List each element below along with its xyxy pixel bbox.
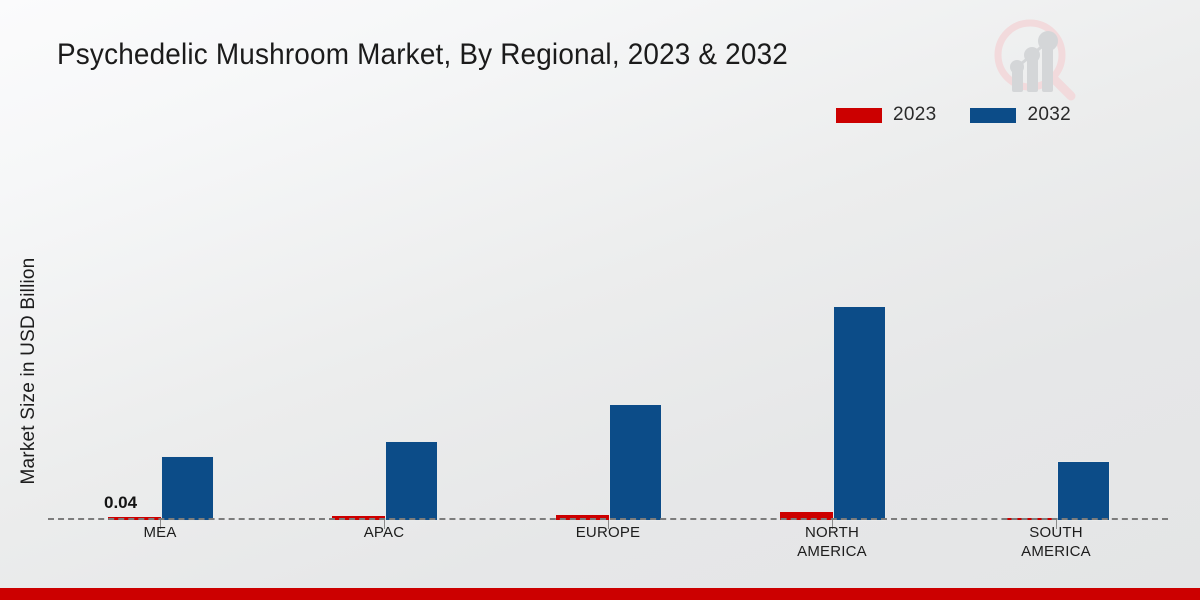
bar-north-america-2032[interactable] <box>834 307 885 520</box>
legend-item-2023[interactable]: 2023 <box>836 104 936 126</box>
watermark-logo <box>985 12 1083 110</box>
bar-group-apac: APAC <box>272 150 496 520</box>
bar-apac-2032[interactable] <box>386 442 437 520</box>
legend-label-2032: 2032 <box>1027 104 1070 126</box>
bottom-accent-band <box>0 588 1200 600</box>
bars-north-america <box>720 150 944 520</box>
magnifier-icon <box>998 23 1071 96</box>
bar-group-south-america: SOUTH AMERICA <box>944 150 1168 520</box>
category-label-north-america: NORTH AMERICA <box>720 523 944 561</box>
bars-mea <box>48 150 272 520</box>
legend-swatch-2032 <box>970 108 1016 123</box>
legend-label-2023: 2023 <box>893 104 936 126</box>
category-label-apac: APAC <box>272 523 496 542</box>
bar-group-mea: 0.04 MEA <box>48 150 272 520</box>
bars-south-america <box>944 150 1168 520</box>
x-axis-baseline <box>48 518 1168 520</box>
category-label-europe: EUROPE <box>496 523 720 542</box>
bar-chart-icon <box>1012 43 1053 92</box>
bars-europe <box>496 150 720 520</box>
legend-item-2032[interactable]: 2032 <box>970 104 1070 126</box>
chart-title: Psychedelic Mushroom Market, By Regional… <box>57 34 788 76</box>
bar-south-america-2032[interactable] <box>1058 462 1109 520</box>
bar-groups: 0.04 MEA APAC <box>48 150 1168 520</box>
chart-legend: 2023 2032 <box>836 104 1071 126</box>
y-axis-label: Market Size in USD Billion <box>18 206 40 536</box>
bar-group-europe: EUROPE <box>496 150 720 520</box>
bar-group-north-america: NORTH AMERICA <box>720 150 944 520</box>
bar-mea-2032[interactable] <box>162 457 213 520</box>
chart-canvas: Psychedelic Mushroom Market, By Regional… <box>0 0 1200 600</box>
legend-swatch-2023 <box>836 108 882 123</box>
plot-area: 0.04 MEA APAC <box>48 150 1168 520</box>
category-label-south-america: SOUTH AMERICA <box>944 523 1168 561</box>
category-label-mea: MEA <box>48 523 272 542</box>
bars-apac <box>272 150 496 520</box>
trend-dots-icon <box>1010 31 1058 74</box>
bar-europe-2032[interactable] <box>610 405 661 520</box>
